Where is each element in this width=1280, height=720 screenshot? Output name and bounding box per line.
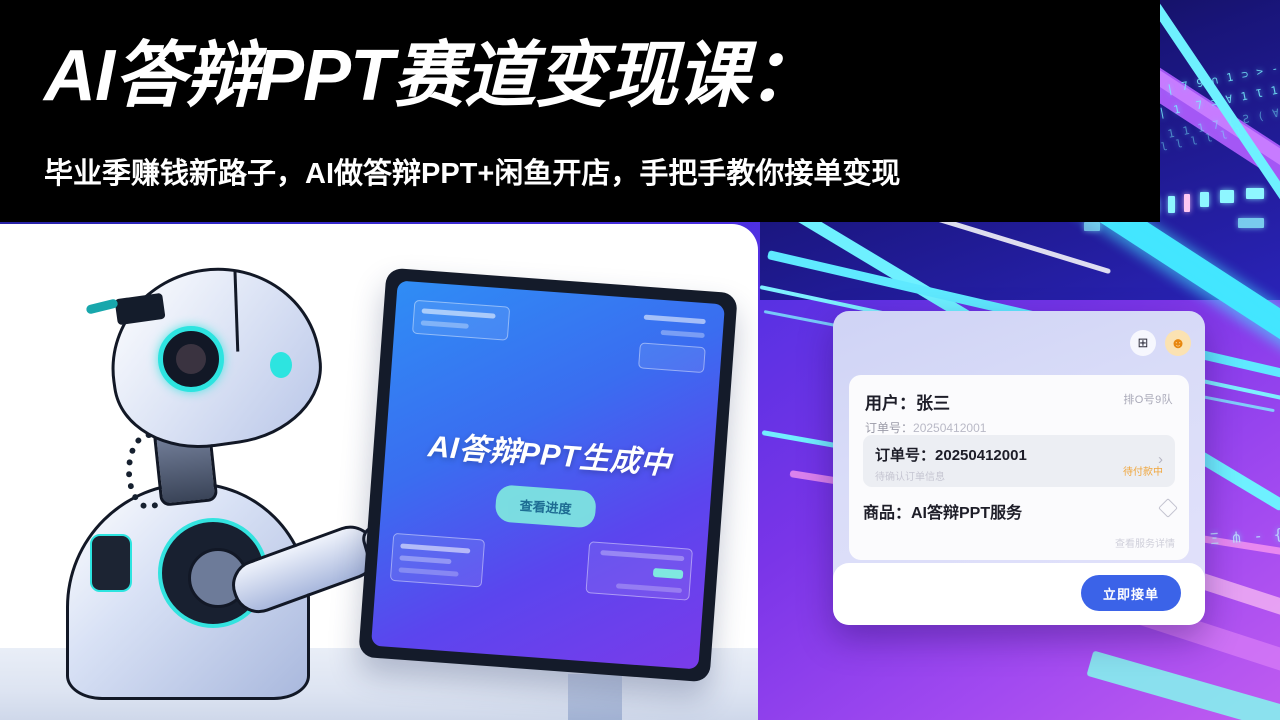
monitor-status-text: AI答辩PPT生成中 <box>385 418 715 486</box>
code-glyphs-small: Ξ ⋔ - { ) <box>1210 527 1280 547</box>
order-item-row: 商品：AI答辩PPT服务 查看服务详情 <box>863 499 1175 550</box>
monitor-progress-button[interactable]: 查看进度 <box>494 484 596 528</box>
monitor-screen: AI答辩PPT生成中 查看进度 <box>371 280 725 669</box>
order-number-label: 订单号： <box>875 447 935 464</box>
chip-tick-4 <box>1200 192 1209 207</box>
chip-tick-2 <box>1168 196 1175 213</box>
robot-eye <box>158 326 224 392</box>
robot-head-seam <box>233 272 239 352</box>
promo-banner-image: 1 | 7 9 ∩ 1 ⊃ > - | 7 < ⅄ | | 1 7 ⊃ ∀ 1 … <box>0 0 1280 720</box>
screen-line-tr-2 <box>661 330 705 338</box>
robot-antenna <box>85 298 118 314</box>
chip-tick-5 <box>1220 190 1234 203</box>
order-user-subline: 订单号：20250412001 <box>865 419 1173 436</box>
page-subtitle: 毕业季赚钱新路子，AI做答辩PPT+闲鱼开店，手把手教你接单变现 <box>44 150 900 192</box>
queue-badge: 排O号9队 <box>1123 391 1173 407</box>
header-banner: AI答辩PPT赛道变现课： 毕业季赚钱新路子，AI做答辩PPT+闲鱼开店，手把手… <box>0 0 1160 222</box>
order-number-value: 20250412001 <box>935 447 1027 464</box>
status-badge: 待付款中 <box>1123 463 1163 478</box>
robot-illustration <box>38 268 368 698</box>
page-title: AI答辩PPT赛道变现课： <box>44 40 819 112</box>
monitor-stand <box>568 674 622 720</box>
monitor: AI答辩PPT生成中 查看进度 <box>372 280 724 670</box>
order-number-text: 订单号：20250412001 <box>875 444 1163 465</box>
accept-order-button[interactable]: 立即接单 <box>1081 575 1181 611</box>
order-user-sub-label: 订单号： <box>865 421 913 435</box>
grid-icon[interactable]: ⊞ <box>1130 330 1156 356</box>
order-details-sheet: 排O号9队 用户：张三 订单号：20250412001 订单号：20250412… <box>849 375 1189 560</box>
illustration-panel: AI答辩PPT生成中 查看进度 <box>0 224 758 720</box>
order-number-row[interactable]: 订单号：20250412001 待确认订单信息 › 待付款中 <box>863 435 1175 487</box>
screen-card-top-right <box>638 342 706 373</box>
monitor-frame: AI答辩PPT生成中 查看进度 <box>358 268 738 683</box>
chip-tick-6 <box>1246 188 1264 199</box>
order-item-name: 商品：AI答辩PPT服务 <box>863 499 1175 523</box>
chip-tick-3 <box>1184 194 1190 212</box>
order-user-sub-value: 20250412001 <box>913 421 986 435</box>
chip-block-2 <box>1084 222 1100 231</box>
chip-block-1 <box>1238 218 1264 228</box>
robot-ear-light <box>270 352 292 378</box>
order-card-footer: 立即接单 <box>833 563 1205 625</box>
order-card: ⊞ ☻ 排O号9队 用户：张三 订单号：20250412001 订单号：2025… <box>833 311 1205 625</box>
order-card-actions: ⊞ ☻ <box>1130 330 1191 356</box>
order-item-subtext: 查看服务详情 <box>863 535 1175 550</box>
screen-line-tr-1 <box>644 315 706 325</box>
smiley-icon[interactable]: ☻ <box>1165 330 1191 356</box>
order-number-subtext: 待确认订单信息 <box>875 468 1163 483</box>
robot-chest-port <box>90 534 132 592</box>
